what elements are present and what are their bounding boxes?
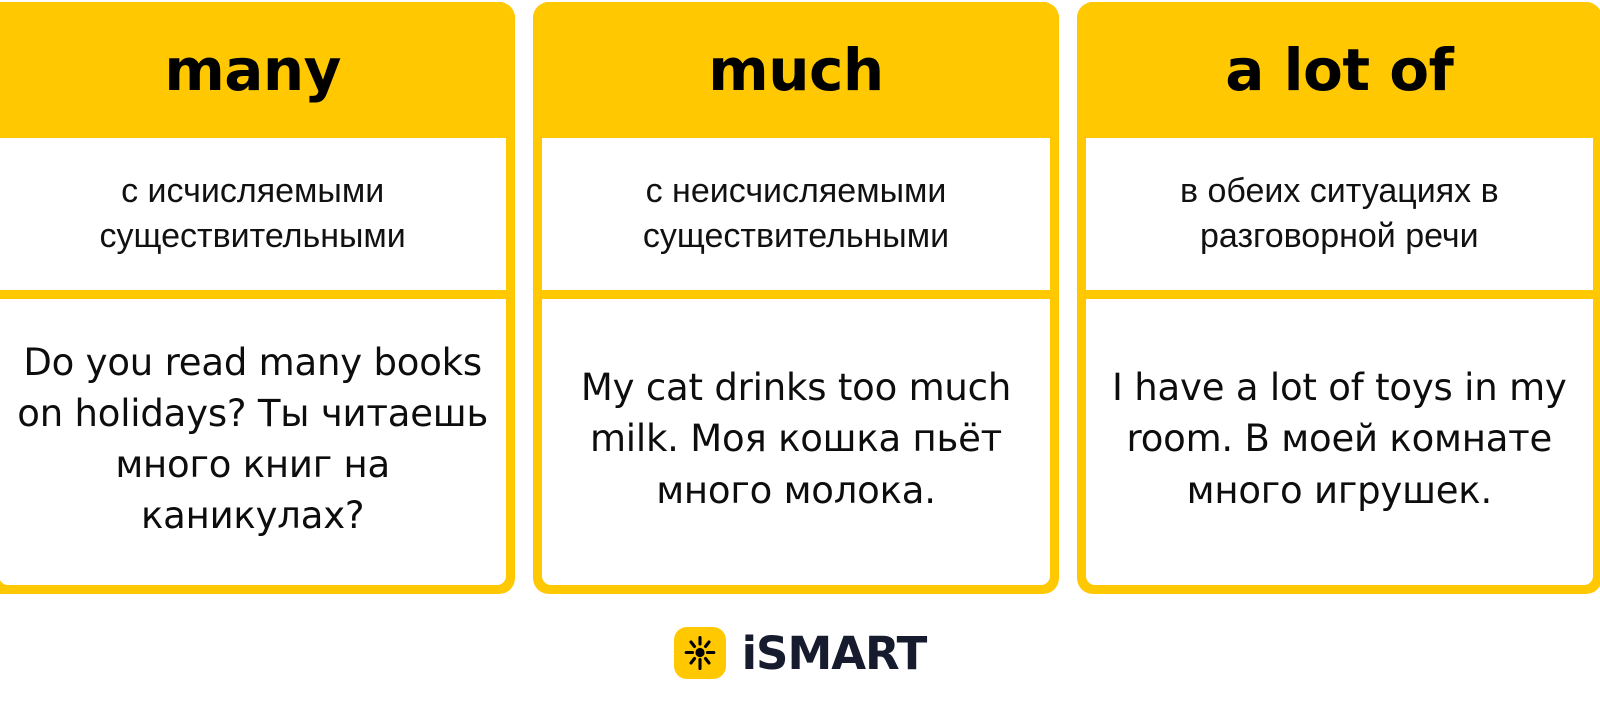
example-text-a-lot-of: I have a lot of toys in my room. В моей …: [1102, 362, 1577, 515]
example-cell-many: Do you read many books on holidays? Ты ч…: [0, 299, 506, 585]
card-body-much: с неисчисляемыми существительными My cat…: [533, 138, 1058, 594]
infographic-page: many с исчисляемыми существительными Do …: [0, 0, 1600, 702]
example-text-much: My cat drinks too much milk. Моя кошка п…: [558, 362, 1033, 515]
definition-cell-much: с неисчисляемыми существительными: [542, 138, 1049, 290]
ismart-logo: iSMART: [674, 627, 927, 679]
logo-wordmark: iSMART: [742, 631, 927, 676]
card-many: many с исчисляемыми существительными Do …: [0, 2, 515, 594]
sun-icon: [674, 627, 726, 679]
card-title-many: many: [164, 41, 341, 99]
card-body-a-lot-of: в обеих ситуациях в разговорной речи I h…: [1077, 138, 1600, 594]
footer: iSMART: [0, 604, 1600, 702]
card-a-lot-of: a lot of в обеих ситуациях в разговорной…: [1077, 2, 1600, 594]
example-cell-much: My cat drinks too much milk. Моя кошка п…: [542, 299, 1049, 585]
definition-text-a-lot-of: в обеих ситуациях в разговорной речи: [1100, 169, 1579, 259]
definition-cell-a-lot-of: в обеих ситуациях в разговорной речи: [1086, 138, 1593, 290]
card-header-many: many: [0, 2, 515, 138]
card-title-much: much: [708, 41, 883, 99]
definition-text-much: с неисчисляемыми существительными: [556, 169, 1035, 259]
card-title-a-lot-of: a lot of: [1225, 41, 1453, 99]
card-much: much с неисчисляемыми существительными M…: [533, 2, 1058, 594]
example-text-many: Do you read many books on holidays? Ты ч…: [15, 337, 490, 541]
card-body-many: с исчисляемыми существительными Do you r…: [0, 138, 515, 594]
comparison-card-grid: many с исчисляемыми существительными Do …: [0, 2, 1600, 594]
example-cell-a-lot-of: I have a lot of toys in my room. В моей …: [1086, 299, 1593, 585]
card-header-much: much: [533, 2, 1058, 138]
definition-cell-many: с исчисляемыми существительными: [0, 138, 506, 290]
card-header-a-lot-of: a lot of: [1077, 2, 1600, 138]
definition-text-many: с исчисляемыми существительными: [13, 169, 492, 259]
